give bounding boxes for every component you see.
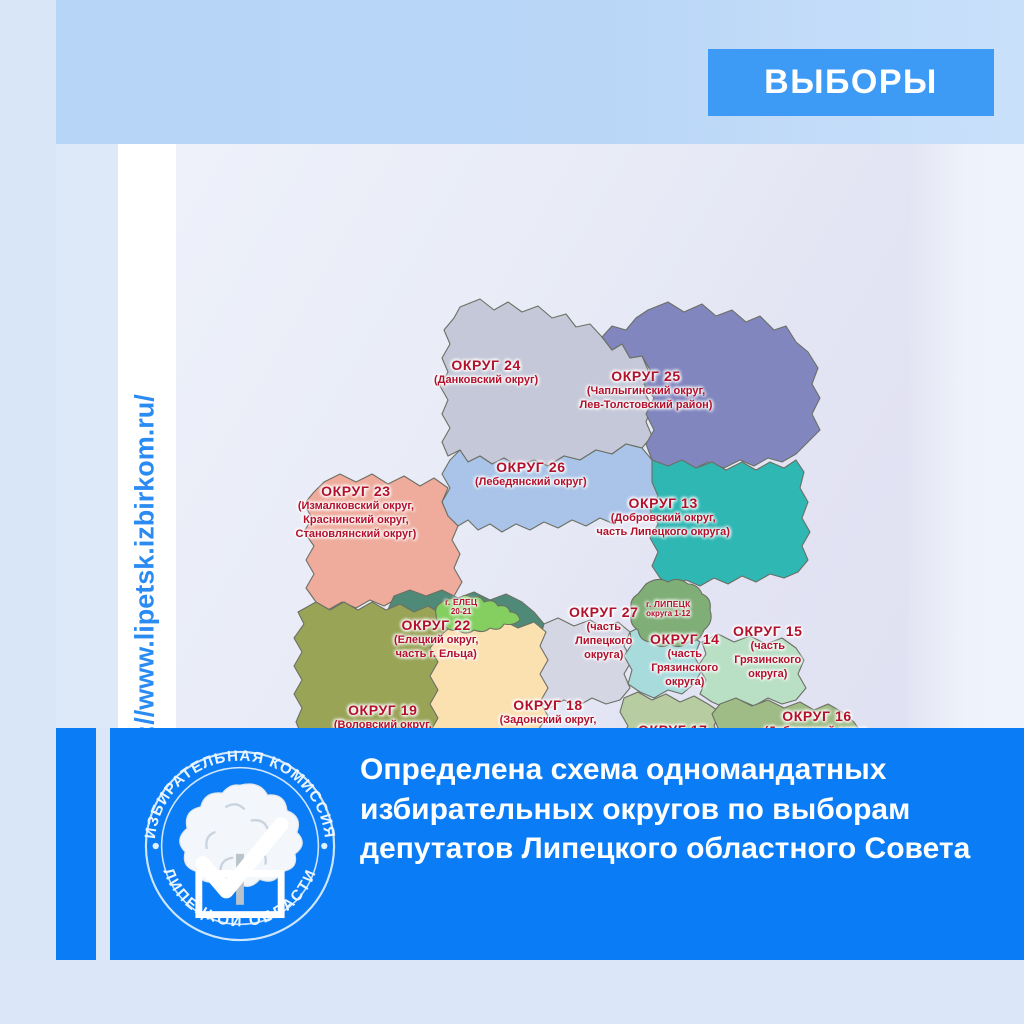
district-shape-23[interactable] bbox=[304, 474, 462, 610]
background-bottom-band bbox=[0, 960, 1024, 1024]
header-badge: ВЫБОРЫ bbox=[708, 49, 994, 116]
map-panel: ОКРУГ 24(Данковский округ)ОКРУГ 25(Чаплы… bbox=[56, 144, 1024, 728]
footer-banner: ИЗБИРАТЕЛЬНАЯ КОМИССИЯ ЛИПЕЦКОЙ ОБЛАСТИ … bbox=[110, 728, 1024, 960]
map-band-right bbox=[908, 144, 1024, 728]
footer-caption: Определена схема одномандатных избирател… bbox=[360, 750, 1010, 869]
district-shape-15[interactable] bbox=[698, 634, 806, 708]
district-shape-18[interactable] bbox=[430, 618, 548, 728]
district-shape-13[interactable] bbox=[650, 460, 810, 586]
footer-accent-strip bbox=[56, 728, 96, 960]
footer-caption-line-2: избирательных округов по выборам bbox=[360, 790, 1010, 830]
header-badge-label: ВЫБОРЫ bbox=[764, 63, 938, 102]
infographic-poster: ВЫБОРЫ ОКРУГ 24(Данковский округ)ОКРУГ 2… bbox=[0, 0, 1024, 1024]
map-band-left bbox=[56, 144, 118, 728]
city-shape-lipetsk[interactable] bbox=[631, 579, 711, 646]
footer-caption-line-3: депутатов Липецкого областного Совета bbox=[360, 829, 1010, 869]
district-shape-24[interactable] bbox=[440, 299, 652, 466]
district-map bbox=[176, 144, 908, 728]
footer-caption-line-1: Определена схема одномандатных bbox=[360, 750, 1010, 790]
district-shape-19[interactable] bbox=[294, 602, 456, 728]
election-commission-emblem-icon: ИЗБИРАТЕЛЬНАЯ КОМИССИЯ ЛИПЕЦКОЙ ОБЛАСТИ bbox=[142, 748, 338, 944]
background-left-column bbox=[0, 0, 56, 1024]
